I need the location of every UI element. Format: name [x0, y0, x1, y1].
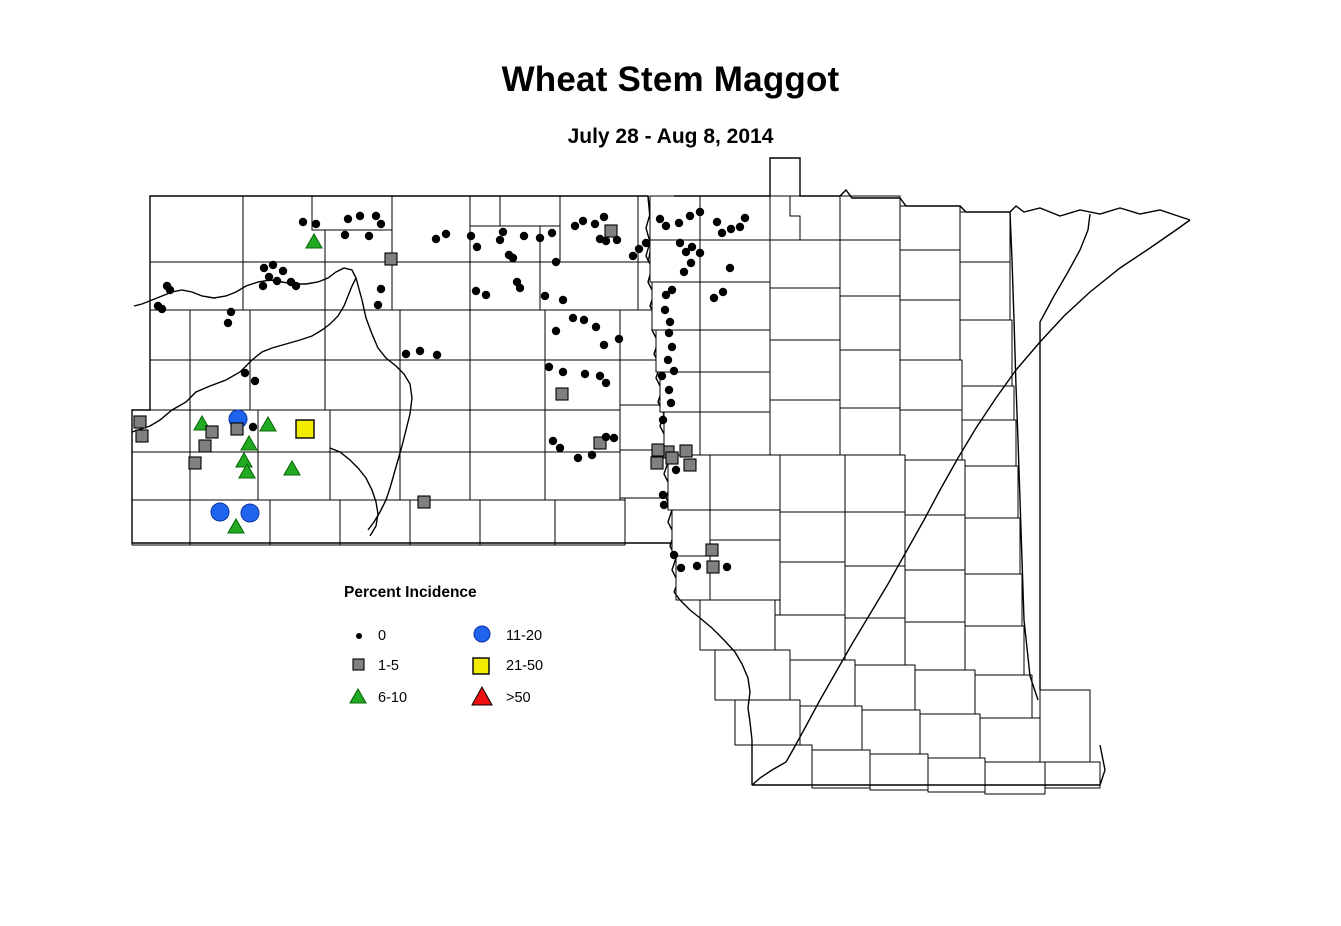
yellow-square-icon	[470, 654, 494, 676]
legend-label-1: 1-5	[378, 658, 399, 674]
blue-circle-icon	[470, 623, 494, 643]
dot-marker	[600, 213, 608, 221]
dot-marker	[249, 423, 257, 431]
map-svg	[0, 0, 1341, 926]
dot-marker	[574, 454, 582, 462]
dot-marker	[629, 252, 637, 260]
dot-marker	[602, 379, 610, 387]
dot-marker	[260, 264, 268, 272]
gray-square-marker	[189, 457, 201, 469]
red-triangle-icon	[468, 684, 496, 708]
legend: Percent Incidence 0 1-5 6-10 11-20 21-50…	[330, 580, 570, 710]
dot-marker	[696, 249, 704, 257]
gray-square-icon	[348, 656, 370, 674]
dot-marker	[580, 316, 588, 324]
dot-marker	[741, 214, 749, 222]
dot-marker	[312, 220, 320, 228]
dot-marker	[559, 296, 567, 304]
gray-square-marker	[684, 459, 696, 471]
dot-marker	[670, 551, 678, 559]
dot-marker	[686, 212, 694, 220]
dot-marker	[433, 351, 441, 359]
dot-marker	[548, 229, 556, 237]
dot-marker	[667, 399, 675, 407]
dot-marker	[668, 343, 676, 351]
dot-marker	[496, 236, 504, 244]
dot-marker	[158, 305, 166, 313]
gray-square-marker	[680, 445, 692, 457]
gray-square-marker	[134, 416, 146, 428]
yellow-square-marker	[296, 420, 314, 438]
gray-square-marker	[418, 496, 430, 508]
dot-marker	[377, 220, 385, 228]
dot-marker	[662, 291, 670, 299]
dot-marker	[520, 232, 528, 240]
dot-marker	[659, 491, 667, 499]
dot-marker	[541, 292, 549, 300]
dot-marker	[365, 232, 373, 240]
dot-marker	[227, 308, 235, 316]
dot-marker	[467, 232, 475, 240]
gray-square-marker	[652, 444, 664, 456]
dot-marker	[672, 466, 680, 474]
dot-marker	[259, 282, 267, 290]
dot-marker	[726, 264, 734, 272]
dot-marker	[662, 222, 670, 230]
dot-marker	[658, 372, 666, 380]
legend-label-3: 11-20	[506, 628, 542, 644]
dot-marker	[432, 235, 440, 243]
dot-marker	[677, 564, 685, 572]
dot-marker	[552, 258, 560, 266]
dot-marker	[736, 223, 744, 231]
dot-marker	[719, 288, 727, 296]
map-canvas	[0, 0, 1341, 926]
gray-square-marker	[231, 423, 243, 435]
dot-marker	[696, 208, 704, 216]
dot-marker	[659, 416, 667, 424]
dot-marker	[344, 215, 352, 223]
dot-marker	[579, 217, 587, 225]
dot-marker	[710, 294, 718, 302]
dot-marker	[680, 268, 688, 276]
blue-circle-marker	[241, 504, 259, 522]
dot-marker	[602, 433, 610, 441]
dot-marker	[372, 212, 380, 220]
dot-marker	[713, 218, 721, 226]
dot-marker	[299, 218, 307, 226]
dot-marker	[292, 282, 300, 290]
dot-marker	[556, 444, 564, 452]
dot-marker	[341, 231, 349, 239]
dot-marker	[356, 212, 364, 220]
gray-square-marker	[136, 430, 148, 442]
legend-label-2: 6-10	[378, 690, 407, 706]
dot-marker	[569, 314, 577, 322]
dot-marker	[588, 451, 596, 459]
dot-marker	[693, 562, 701, 570]
dot-marker	[642, 239, 650, 247]
dot-marker	[596, 372, 604, 380]
dot-marker	[660, 501, 668, 509]
legend-title: Percent Incidence	[344, 584, 477, 602]
dot-marker	[688, 243, 696, 251]
dot-marker	[656, 215, 664, 223]
dot-marker	[670, 367, 678, 375]
dot-marker	[265, 273, 273, 281]
dot-marker	[600, 341, 608, 349]
dot-marker	[516, 284, 524, 292]
gray-square-marker	[199, 440, 211, 452]
dot-marker	[723, 563, 731, 571]
dot-marker	[571, 222, 579, 230]
dot-marker	[402, 350, 410, 358]
blue-circle-marker	[211, 503, 229, 521]
dot-marker	[675, 219, 683, 227]
dot-marker	[241, 369, 249, 377]
dot-marker	[718, 229, 726, 237]
green-triangle-icon	[346, 686, 370, 706]
dot-marker	[545, 363, 553, 371]
dot-marker	[269, 261, 277, 269]
dot-marker	[613, 236, 621, 244]
dot-marker	[615, 335, 623, 343]
legend-label-4: 21-50	[506, 658, 543, 674]
dot-marker	[581, 370, 589, 378]
dot-marker	[509, 254, 517, 262]
legend-label-0: 0	[378, 628, 386, 644]
gray-square-marker	[666, 452, 678, 464]
dot-marker	[727, 225, 735, 233]
gray-square-marker	[706, 544, 718, 556]
dot-marker	[273, 277, 281, 285]
dot-marker	[661, 306, 669, 314]
dot-marker	[482, 291, 490, 299]
gray-square-marker	[556, 388, 568, 400]
dot-marker	[591, 220, 599, 228]
dot-marker	[442, 230, 450, 238]
gray-square-marker	[206, 426, 218, 438]
dot-marker	[224, 319, 232, 327]
dot-marker	[687, 259, 695, 267]
dot-marker	[549, 437, 557, 445]
dot-marker	[472, 287, 480, 295]
dot-marker	[665, 386, 673, 394]
gray-square-marker	[707, 561, 719, 573]
dot-marker	[473, 243, 481, 251]
dot-marker	[592, 323, 600, 331]
dot-marker	[536, 234, 544, 242]
dot-marker	[664, 356, 672, 364]
black-dot-icon	[348, 627, 370, 643]
dot-marker	[559, 368, 567, 376]
gray-square-marker	[605, 225, 617, 237]
legend-label-5: >50	[506, 690, 531, 706]
dot-marker	[377, 285, 385, 293]
dot-marker	[610, 434, 618, 442]
dot-marker	[499, 228, 507, 236]
gray-square-marker	[651, 457, 663, 469]
dot-marker	[665, 329, 673, 337]
county-boundaries	[132, 158, 1190, 794]
dot-marker	[552, 327, 560, 335]
dot-marker	[251, 377, 259, 385]
dot-marker	[676, 239, 684, 247]
dot-marker	[279, 267, 287, 275]
dot-marker	[666, 318, 674, 326]
dot-marker	[166, 286, 174, 294]
dot-marker	[374, 301, 382, 309]
dot-marker	[635, 245, 643, 253]
dot-marker	[602, 237, 610, 245]
gray-square-marker	[385, 253, 397, 265]
dot-marker	[416, 347, 424, 355]
